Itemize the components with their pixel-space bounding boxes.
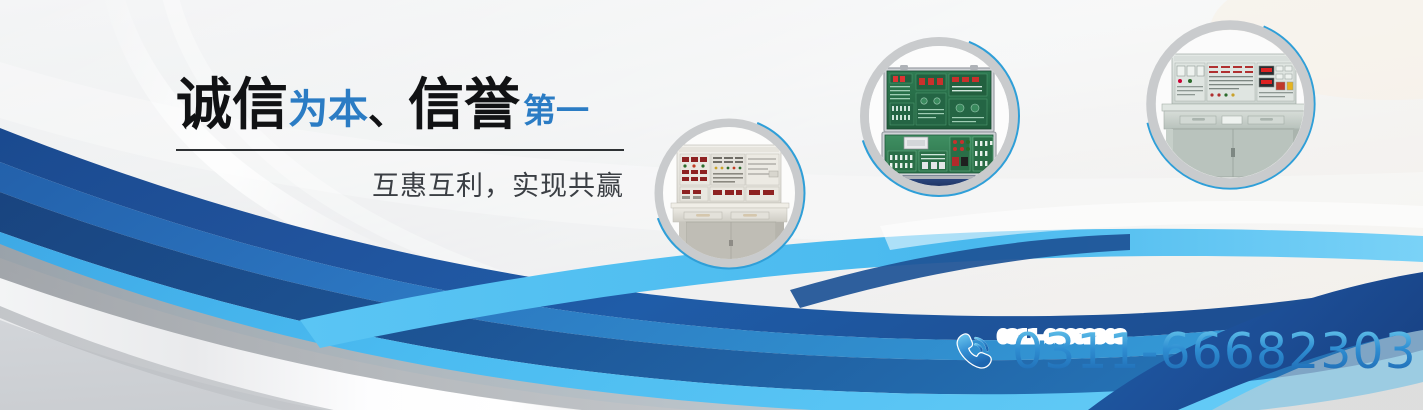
promotional-banner: 诚信 为本 、 信誉 第一 互惠互利，实现共赢 — [0, 0, 1423, 410]
slogan-block: 诚信 为本 、 信誉 第一 互惠互利，实现共赢 — [176, 78, 624, 203]
phone-call-icon — [952, 329, 998, 375]
slogan-part-weiben: 为本 — [288, 90, 368, 130]
slogan-subtitle: 互惠互利，实现共赢 — [176, 164, 624, 203]
slogan-title: 诚信 为本 、 信誉 第一 — [176, 78, 624, 140]
slogan-divider — [176, 149, 624, 151]
phone-number[interactable]: 0311-66682303 — [1012, 323, 1417, 380]
slogan-part-diyi: 第一 — [523, 94, 589, 127]
product-circle-portable-training-case[interactable] — [856, 33, 1022, 199]
product-circle-electrical-lab-bench-left[interactable] — [651, 115, 807, 271]
product-circle-electrical-lab-bench-right[interactable] — [1142, 16, 1318, 192]
slogan-part-xinyu: 信誉 — [408, 78, 520, 134]
slogan-part-comma: 、 — [368, 91, 408, 131]
contact-phone[interactable]: 0311-66682303 0311-66682303 — [952, 327, 1417, 376]
product-photo-bench-left — [651, 115, 807, 271]
slogan-part-chengxin: 诚信 — [176, 78, 288, 134]
product-photo-training-case — [856, 33, 1022, 199]
product-photo-bench-right — [1142, 16, 1318, 192]
